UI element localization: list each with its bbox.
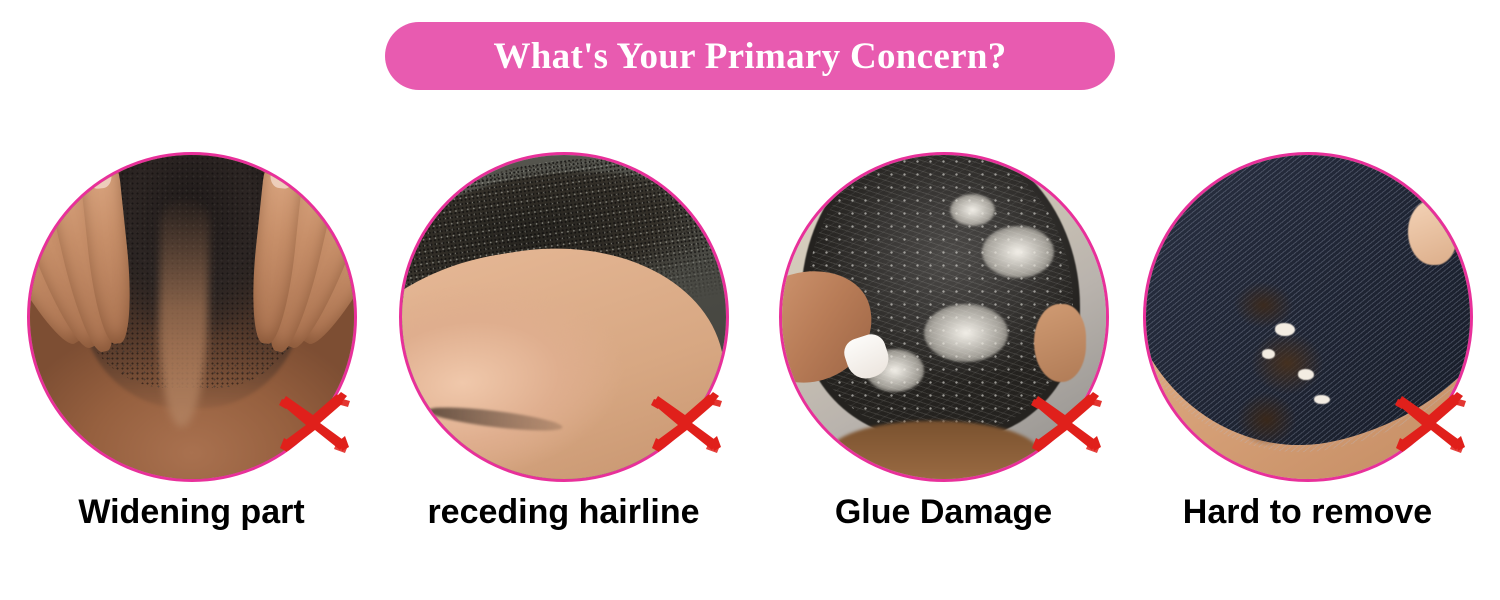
circle-photo-frame <box>1143 152 1473 482</box>
photo-glue-damage <box>782 155 1106 479</box>
circle-photo-frame <box>27 152 357 482</box>
card-label: Hard to remove <box>1120 492 1495 532</box>
concern-card-row: Widening part <box>0 140 1500 560</box>
card-label: receding hairline <box>376 492 751 532</box>
promo-banner: What's Your Primary Concern? <box>0 0 1500 600</box>
concern-card-receding-hairline[interactable]: receding hairline <box>376 140 751 560</box>
circle-border <box>1143 152 1473 482</box>
circle-photo-frame <box>399 152 729 482</box>
circle-border <box>399 152 729 482</box>
concern-card-widening-part[interactable]: Widening part <box>4 140 379 560</box>
page-title: What's Your Primary Concern? <box>494 38 1007 75</box>
concern-card-hard-to-remove[interactable]: Hard to remove <box>1120 140 1495 560</box>
circle-border <box>27 152 357 482</box>
circle-border <box>779 152 1109 482</box>
card-label: Widening part <box>4 492 379 532</box>
left-hand <box>27 152 140 388</box>
right-hand <box>243 152 356 388</box>
concern-card-glue-damage[interactable]: Glue Damage <box>756 140 1131 560</box>
photo-hard-to-remove <box>1146 155 1470 479</box>
photo-widening-part <box>30 155 354 479</box>
card-label: Glue Damage <box>756 492 1131 532</box>
header-banner: What's Your Primary Concern? <box>385 22 1115 90</box>
photo-receding-hairline <box>402 155 726 479</box>
circle-photo-frame <box>779 152 1109 482</box>
